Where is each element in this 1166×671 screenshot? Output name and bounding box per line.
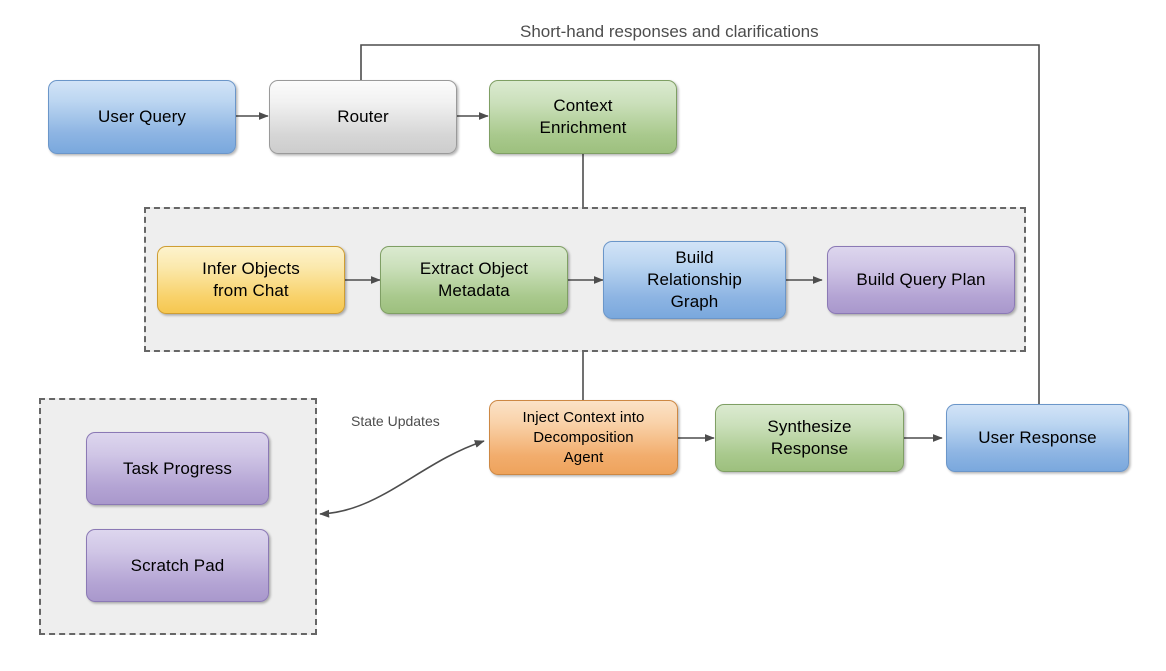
node-user-query[interactable]: User Query [48,80,236,154]
node-task-progress[interactable]: Task Progress [86,432,269,505]
diagram-canvas: User Query Router ContextEnrichment Infe… [0,0,1166,671]
node-inject-context-into-decomposition-agent-label: Inject Context intoDecompositionAgent [515,408,653,468]
node-context-enrichment[interactable]: ContextEnrichment [489,80,677,154]
node-synthesize-response[interactable]: SynthesizeResponse [715,404,904,472]
node-scratch-pad-label: Scratch Pad [123,555,233,577]
node-scratch-pad[interactable]: Scratch Pad [86,529,269,602]
node-build-query-plan-label: Build Query Plan [848,269,993,291]
node-inject-context-into-decomposition-agent[interactable]: Inject Context intoDecompositionAgent [489,400,678,475]
edge-label-state-updates: State Updates [351,413,440,429]
node-synthesize-response-label: SynthesizeResponse [759,416,859,460]
node-user-query-label: User Query [90,106,194,128]
edge-label-shorthand-responses: Short-hand responses and clarifications [520,22,819,42]
node-extract-object-metadata[interactable]: Extract ObjectMetadata [380,246,568,314]
node-router[interactable]: Router [269,80,457,154]
node-infer-objects-from-chat-label: Infer Objectsfrom Chat [194,258,308,302]
node-context-enrichment-label: ContextEnrichment [532,95,635,139]
node-extract-object-metadata-label: Extract ObjectMetadata [412,258,536,302]
node-router-label: Router [329,106,397,128]
node-task-progress-label: Task Progress [115,458,240,480]
node-build-relationship-graph-label: BuildRelationshipGraph [639,247,750,313]
node-build-relationship-graph[interactable]: BuildRelationshipGraph [603,241,786,319]
node-user-response[interactable]: User Response [946,404,1129,472]
node-user-response-label: User Response [970,427,1104,449]
node-infer-objects-from-chat[interactable]: Infer Objectsfrom Chat [157,246,345,314]
node-build-query-plan[interactable]: Build Query Plan [827,246,1015,314]
